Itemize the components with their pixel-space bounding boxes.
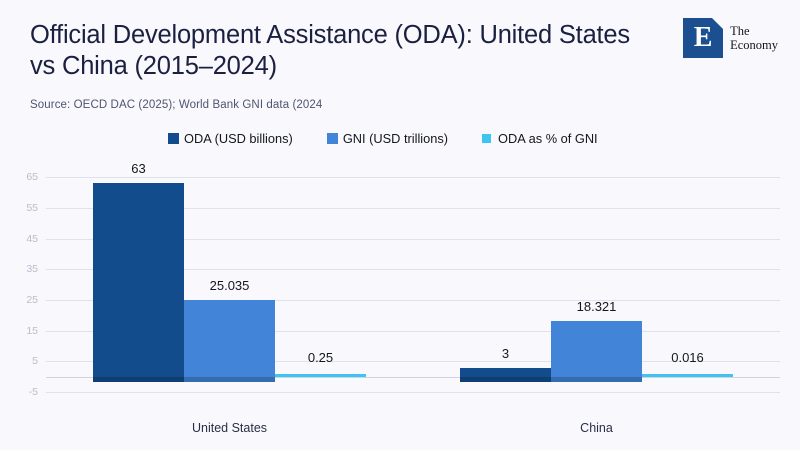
legend-label-oda: ODA (USD billions) [184, 131, 293, 146]
y-axis-tick-label: 55 [26, 202, 38, 214]
bar[interactable]: 25.035 [184, 300, 275, 377]
brand-wordmark: The Economy [730, 24, 778, 52]
bar-base-shadow [460, 377, 551, 382]
legend-label-oda-pct: ODA as % of GNI [498, 131, 598, 146]
brand-mark-icon: E [683, 18, 723, 58]
y-axis-tick-label: -5 [29, 386, 38, 398]
brand-logo: E The Economy [683, 18, 778, 58]
bar-base-shadow [93, 377, 184, 382]
bar[interactable]: 63 [93, 183, 184, 376]
brand-wordmark-line1: The [730, 24, 778, 38]
y-axis-tick-label: 25 [26, 294, 38, 306]
chart-source-note: Source: OECD DAC (2025); World Bank GNI … [30, 99, 322, 111]
bar-value-label: 0.25 [308, 350, 333, 365]
legend-swatch-gni [327, 133, 338, 144]
y-axis-tick-label: 5 [32, 355, 38, 367]
bar-base-shadow [551, 377, 642, 382]
legend-item-gni[interactable]: GNI (USD trillions) [327, 131, 448, 146]
bar[interactable]: 3 [460, 368, 551, 377]
bar[interactable]: 0.25 [275, 374, 366, 377]
x-axis-category-label: United States [192, 421, 267, 435]
gridline: -5 [46, 392, 780, 393]
x-axis-category-label: China [580, 421, 613, 435]
y-axis-tick-label: 45 [26, 233, 38, 245]
bar-value-label: 3 [502, 346, 509, 361]
gridline: 65 [46, 177, 780, 178]
y-axis-tick-label: 35 [26, 263, 38, 275]
legend-item-oda[interactable]: ODA (USD billions) [168, 131, 293, 146]
y-axis-tick-label: 15 [26, 325, 38, 337]
brand-wordmark-line2: Economy [730, 38, 778, 52]
chart-plot-area: 6555453525155-5 6325.0350.25318.3210.016… [46, 168, 780, 392]
bar-value-label: 18.321 [577, 299, 617, 314]
y-axis-tick-label: 65 [26, 171, 38, 183]
page-title: Official Development Assistance (ODA): U… [30, 20, 660, 82]
chart-legend: ODA (USD billions) GNI (USD trillions) O… [168, 131, 598, 146]
bar-value-label: 63 [131, 161, 145, 176]
legend-swatch-oda [168, 133, 179, 144]
brand-fold-corner-icon [712, 18, 723, 29]
bar[interactable]: 0.016 [642, 374, 733, 377]
bar[interactable]: 18.321 [551, 321, 642, 377]
chart-header: Official Development Assistance (ODA): U… [0, 0, 800, 122]
legend-swatch-oda-pct [482, 134, 491, 143]
bar-value-label: 0.016 [671, 350, 704, 365]
bar-value-label: 25.035 [210, 278, 250, 293]
bar-base-shadow [184, 377, 275, 382]
legend-label-gni: GNI (USD trillions) [343, 131, 448, 146]
legend-item-oda-pct[interactable]: ODA as % of GNI [482, 131, 598, 146]
